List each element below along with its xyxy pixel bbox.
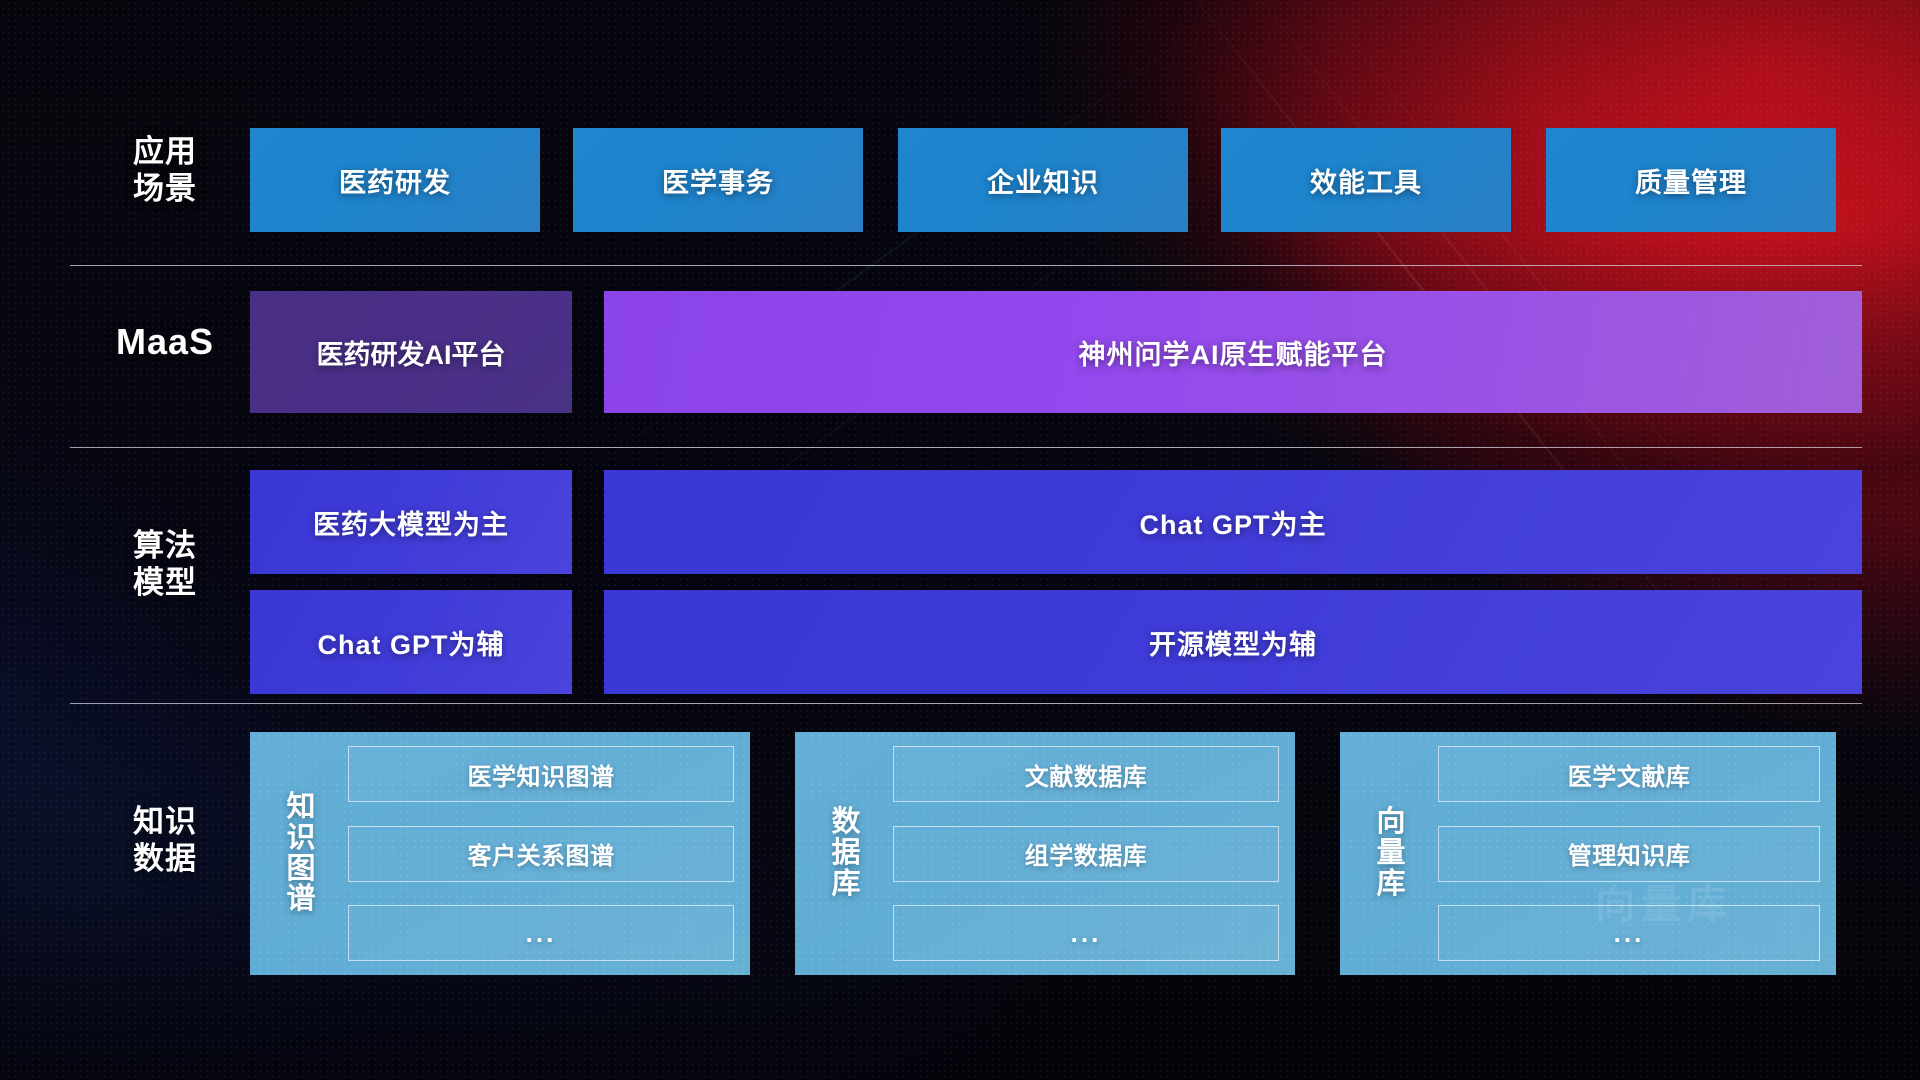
- title-char: 识: [286, 823, 315, 854]
- algo-box-label: 医药大模型为主: [313, 503, 509, 542]
- algo-right-box-2[interactable]: 开源模型为辅: [604, 590, 1862, 694]
- knowledge-group-1-title: 知 识 图 谱: [268, 746, 334, 961]
- maas-right-box[interactable]: 神州问学AI原生赋能平台: [604, 291, 1862, 413]
- knowledge-group-1[interactable]: 知 识 图 谱 医学知识图谱 客户关系图谱 ...: [250, 732, 750, 975]
- title-char: 量: [1376, 838, 1405, 869]
- divider-3: [70, 703, 1862, 704]
- row-label-line: 算法: [90, 528, 240, 565]
- knowledge-item-more[interactable]: ...: [893, 905, 1279, 961]
- row-knowledge: 知识 数据 知 识 图 谱 医学知识图谱 客户关系图谱 ...: [0, 732, 1920, 975]
- knowledge-item[interactable]: 文献数据库: [893, 746, 1279, 802]
- divider-1: [70, 265, 1862, 266]
- divider-2: [70, 447, 1862, 448]
- algo-box-label: Chat GPT为辅: [317, 623, 504, 662]
- app-box-3[interactable]: 企业知识: [898, 128, 1188, 232]
- title-char: 据: [831, 838, 860, 869]
- knowledge-item[interactable]: 医学文献库: [1438, 746, 1820, 802]
- row-label-line: 数据: [90, 841, 240, 878]
- app-box-5[interactable]: 质量管理: [1546, 128, 1836, 232]
- row-label-application: 应用 场景: [90, 134, 240, 207]
- knowledge-item[interactable]: 医学知识图谱: [348, 746, 734, 802]
- title-char: 向: [1376, 807, 1405, 838]
- title-char: 数: [831, 807, 860, 838]
- title-char: 图: [286, 854, 315, 885]
- knowledge-group-2-items: 文献数据库 组学数据库 ...: [879, 746, 1279, 961]
- title-char: 谱: [286, 884, 315, 915]
- app-box-4[interactable]: 效能工具: [1221, 128, 1511, 232]
- knowledge-group-1-items: 医学知识图谱 客户关系图谱 ...: [334, 746, 734, 961]
- row-label-line: 应用: [90, 134, 240, 171]
- algo-left-box-1[interactable]: 医药大模型为主: [250, 470, 572, 574]
- algo-box-label: 开源模型为辅: [1149, 623, 1317, 662]
- algo-box-label: Chat GPT为主: [1139, 503, 1326, 542]
- title-char: 库: [1376, 869, 1405, 900]
- knowledge-item[interactable]: 组学数据库: [893, 826, 1279, 882]
- row-application: 应用 场景 医药研发 医学事务 企业知识 效能工具 质量管理: [0, 128, 1920, 232]
- maas-left-box[interactable]: 医药研发AI平台: [250, 291, 572, 413]
- row-algorithm: 算法 模型 医药大模型为主 Chat GPT为主 Chat GPT为辅 开源模型…: [0, 470, 1920, 705]
- knowledge-group-3-title: 向 量 库: [1358, 746, 1424, 961]
- row-label-line: 模型: [90, 565, 240, 602]
- maas-right-label: 神州问学AI原生赋能平台: [1079, 333, 1388, 372]
- row-label-line: MaaS: [90, 321, 240, 363]
- row-label-line: 知识: [90, 804, 240, 841]
- row-label-algorithm: 算法 模型: [90, 528, 240, 601]
- app-box-label: 质量管理: [1635, 161, 1747, 200]
- knowledge-item-more[interactable]: ...: [348, 905, 734, 961]
- algo-left-box-2[interactable]: Chat GPT为辅: [250, 590, 572, 694]
- title-char: 库: [831, 869, 860, 900]
- title-char: 知: [286, 792, 315, 823]
- row-maas: MaaS 医药研发AI平台 神州问学AI原生赋能平台: [0, 291, 1920, 413]
- row-label-line: 场景: [90, 171, 240, 208]
- algo-right-box-1[interactable]: Chat GPT为主: [604, 470, 1862, 574]
- knowledge-item[interactable]: 客户关系图谱: [348, 826, 734, 882]
- watermark: 向量库: [1595, 872, 1733, 930]
- row-label-knowledge: 知识 数据: [90, 804, 240, 877]
- app-box-label: 效能工具: [1310, 161, 1422, 200]
- knowledge-group-2[interactable]: 数 据 库 文献数据库 组学数据库 ...: [795, 732, 1295, 975]
- app-box-1[interactable]: 医药研发: [250, 128, 540, 232]
- maas-left-label: 医药研发AI平台: [317, 333, 506, 372]
- app-box-label: 医药研发: [339, 161, 451, 200]
- app-box-label: 医学事务: [662, 161, 774, 200]
- knowledge-group-3[interactable]: 向量库 向 量 库 医学文献库 管理知识库 ...: [1340, 732, 1836, 975]
- row-label-maas: MaaS: [90, 321, 240, 363]
- app-box-2[interactable]: 医学事务: [573, 128, 863, 232]
- knowledge-group-2-title: 数 据 库: [813, 746, 879, 961]
- app-box-label: 企业知识: [987, 161, 1099, 200]
